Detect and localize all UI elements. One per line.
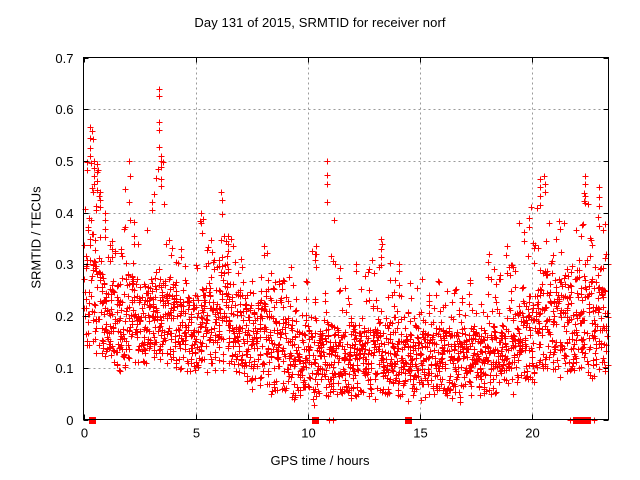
data-point-cross: [136, 348, 142, 354]
data-point-cross: [445, 289, 451, 295]
data-point-cross: [463, 313, 469, 319]
data-point-cross: [119, 251, 125, 257]
data-point-cross: [544, 239, 550, 245]
data-point-cross: [85, 168, 91, 174]
data-point-cross: [603, 222, 609, 228]
data-point-cross: [97, 194, 103, 200]
data-point-zero-cross: [331, 418, 337, 424]
data-point-cross: [111, 279, 117, 285]
data-point-cross: [537, 342, 543, 348]
data-point-cross: [374, 298, 380, 304]
data-point-cross: [497, 380, 503, 386]
data-point-cross: [597, 224, 603, 230]
data-point-cross: [220, 255, 226, 261]
data-point-spike: [354, 269, 360, 275]
data-point-cross: [247, 318, 253, 324]
data-point-cross: [127, 356, 133, 362]
data-point-cross: [566, 302, 572, 308]
data-point-cross: [359, 287, 365, 293]
data-point-cross: [596, 215, 602, 221]
data-point-cross: [596, 296, 602, 302]
data-point-cross: [532, 261, 538, 267]
data-point-cross: [213, 368, 219, 374]
data-point-cross: [174, 358, 180, 364]
data-point-cross: [266, 278, 272, 284]
data-point-cross: [587, 302, 593, 308]
data-point-cross: [238, 310, 244, 316]
data-point-cross: [520, 286, 526, 292]
data-point-cross: [123, 319, 129, 325]
data-point-spike: [543, 182, 549, 188]
y-tick-label: 0.1: [55, 361, 73, 376]
data-point-cross: [552, 314, 558, 320]
data-point-cross: [258, 376, 264, 382]
data-point-cross: [515, 380, 521, 386]
data-point-cross: [474, 311, 480, 317]
data-point-cross: [295, 385, 301, 391]
data-point-cross: [427, 299, 433, 305]
data-point-cross: [231, 282, 237, 288]
data-point-spike: [220, 198, 226, 204]
data-point-cross: [261, 361, 267, 367]
data-point-cross: [373, 397, 379, 403]
data-point-cross: [569, 284, 575, 290]
data-point-cross: [527, 294, 533, 300]
data-point-spike: [583, 174, 589, 180]
data-point-cross: [503, 341, 509, 347]
data-point-spike: [240, 265, 246, 271]
data-point-cross: [303, 323, 309, 329]
data-point-cross: [304, 297, 310, 303]
data-point-cross: [336, 360, 342, 366]
data-point-cross: [93, 248, 99, 254]
data-point-spike: [597, 195, 603, 201]
data-point-cross: [559, 250, 565, 256]
data-point-cross: [500, 323, 506, 329]
data-point-cross: [586, 362, 592, 368]
data-point-cross: [389, 357, 395, 363]
data-point-cross: [127, 347, 133, 353]
data-point-cross: [324, 385, 330, 391]
data-point-cross: [603, 256, 609, 262]
data-point-cross: [258, 335, 264, 341]
data-point-cross: [513, 285, 519, 291]
data-point-cross: [347, 302, 353, 308]
data-point-cross: [453, 288, 459, 294]
data-point-spike: [325, 200, 331, 206]
data-point-spike: [379, 255, 385, 261]
data-point-cross: [109, 298, 115, 304]
data-point-cross: [460, 300, 466, 306]
data-point-cross: [467, 292, 473, 298]
data-point-cross: [221, 352, 227, 358]
data-point-cross: [458, 395, 464, 401]
data-point-cross: [89, 278, 95, 284]
data-point-cross: [271, 286, 277, 292]
data-point-cross: [337, 289, 343, 295]
data-point-cross: [226, 270, 232, 276]
data-point-cross: [386, 326, 392, 332]
data-point-cross: [469, 393, 475, 399]
data-point-cross: [94, 351, 100, 357]
y-tick-label: 0.2: [55, 309, 73, 324]
data-point-cross: [118, 369, 124, 375]
data-point-cross: [455, 330, 461, 336]
data-point-cross: [183, 264, 189, 270]
data-point-spike: [538, 185, 544, 191]
data-point-spike: [95, 162, 101, 168]
data-point-cross: [164, 242, 170, 248]
data-point-cross: [86, 228, 92, 234]
data-point-cross: [594, 280, 600, 286]
data-point-cross: [579, 292, 585, 298]
data-point-cross: [314, 265, 320, 271]
data-point-cross: [493, 295, 499, 301]
data-point-cross: [249, 303, 255, 309]
data-point-cross: [88, 243, 94, 249]
data-points: [82, 87, 612, 425]
data-point-cross: [450, 396, 456, 402]
data-point-cross: [158, 357, 164, 363]
data-point-spike: [159, 184, 165, 190]
data-point-cross: [82, 277, 88, 283]
data-point-cross: [243, 303, 249, 309]
data-point-cross: [379, 309, 385, 315]
data-point-cross: [558, 227, 564, 233]
data-point-cross: [517, 304, 523, 310]
data-point-cross: [419, 352, 425, 358]
y-axis-label: SRMTID / TECUs: [29, 138, 44, 338]
data-point-cross: [467, 302, 473, 308]
data-point-cross: [272, 287, 278, 293]
data-point-cross: [456, 357, 462, 363]
data-point-spike: [103, 218, 109, 224]
data-point-cross: [343, 378, 349, 384]
data-point-cross: [305, 280, 311, 286]
data-point-cross: [419, 398, 425, 404]
data-point-spike: [179, 247, 185, 253]
data-point-cross: [238, 302, 244, 308]
data-point-spike: [486, 260, 492, 266]
data-point-spike: [538, 194, 544, 200]
data-point-cross: [605, 334, 611, 340]
data-point-spike: [150, 208, 156, 214]
data-point-cross: [149, 277, 155, 283]
data-point-zero-cross: [568, 418, 574, 424]
data-point-cross: [559, 343, 565, 349]
data-point-spike: [95, 179, 101, 185]
data-point-cross: [569, 270, 575, 276]
data-point-cross: [136, 360, 142, 366]
data-point-cross: [311, 397, 317, 403]
data-point-cross: [221, 368, 227, 374]
data-point-spike: [88, 136, 94, 142]
data-point-cross: [509, 289, 515, 295]
data-point-cross: [397, 283, 403, 289]
data-point-cross: [259, 275, 265, 281]
data-point-cross: [568, 295, 574, 301]
data-point-spike: [199, 211, 205, 217]
data-point-cross: [408, 281, 414, 287]
data-point-cross: [522, 230, 528, 236]
data-point-cross: [230, 353, 236, 359]
data-point-cross: [406, 399, 412, 405]
data-point-cross: [582, 330, 588, 336]
data-point-cross: [103, 354, 109, 360]
data-point-cross: [115, 295, 121, 301]
data-point-cross: [411, 393, 417, 399]
data-point-spike: [179, 255, 185, 261]
data-point-spike: [597, 204, 603, 210]
data-point-cross: [463, 332, 469, 338]
data-point-cross: [208, 286, 214, 292]
data-point-cross: [438, 309, 444, 315]
data-point-cross: [188, 369, 194, 375]
data-point-spike: [200, 231, 206, 237]
data-point-cross: [179, 366, 185, 372]
data-point-cross: [294, 308, 300, 314]
data-point-spike: [583, 182, 589, 188]
data-point-cross: [233, 260, 239, 266]
data-point-spike: [219, 190, 225, 196]
data-point-cross: [248, 290, 254, 296]
data-point-cross: [293, 309, 299, 315]
data-point-spike: [504, 253, 510, 259]
data-point-cross: [306, 324, 312, 330]
data-point-cross: [153, 276, 159, 282]
data-point-spike: [262, 244, 268, 250]
data-point-cross: [380, 242, 386, 248]
data-point-cross: [93, 303, 99, 309]
y-tick-label: 0.7: [55, 51, 73, 66]
data-point-cross: [532, 370, 538, 376]
data-point-cross: [366, 270, 372, 276]
data-point-spike: [538, 203, 544, 209]
data-point-cross: [281, 278, 287, 284]
data-point-cross: [266, 372, 272, 378]
data-point-cross: [510, 377, 516, 383]
data-point-cross: [145, 228, 151, 234]
data-point-cross: [313, 361, 319, 367]
data-point-cross: [374, 372, 380, 378]
data-point-cross: [204, 344, 210, 350]
data-point-cross: [201, 334, 207, 340]
data-point-cross: [408, 319, 414, 325]
data-point-cross: [527, 300, 533, 306]
data-point-cross: [470, 308, 476, 314]
data-point-cross: [157, 145, 163, 151]
data-point-cross: [313, 258, 319, 264]
data-point-cross: [241, 280, 247, 286]
data-point-cross: [227, 340, 233, 346]
data-point-cross: [563, 273, 569, 279]
data-point-cross: [487, 321, 493, 327]
data-point-cross: [289, 265, 295, 271]
data-point-cross: [499, 330, 505, 336]
data-point-cross: [355, 363, 361, 369]
data-point-cross: [516, 327, 522, 333]
data-point-cross: [529, 205, 535, 211]
data-point-cross: [579, 286, 585, 292]
data-point-cross: [124, 309, 130, 315]
scatter-plot-svg: 00.10.20.30.40.50.60.705101520: [0, 0, 640, 480]
data-point-cross: [207, 281, 213, 287]
data-point-cross: [550, 339, 556, 345]
data-point-cross: [234, 369, 240, 375]
data-point-spike: [239, 257, 245, 263]
data-point-cross: [576, 295, 582, 301]
data-point-cross: [427, 293, 433, 299]
data-point-cross: [169, 337, 175, 343]
data-point-cross: [169, 253, 175, 259]
data-point-cross: [517, 221, 523, 227]
data-point-cross: [173, 334, 179, 340]
data-point-cross: [457, 308, 463, 314]
data-point-spike: [583, 194, 589, 200]
data-point-cross: [258, 322, 264, 328]
data-point-cross: [573, 322, 579, 328]
data-point-cross: [123, 187, 129, 193]
data-point-cross: [574, 228, 580, 234]
data-point-cross: [275, 331, 281, 337]
data-point-cross: [251, 291, 257, 297]
data-point-cross: [367, 267, 373, 273]
data-point-cross: [563, 361, 569, 367]
data-point-cross: [221, 359, 227, 365]
data-point-cross: [450, 300, 456, 306]
data-point-cross: [337, 276, 343, 282]
data-point-cross: [593, 351, 599, 357]
data-point-cross: [200, 287, 206, 293]
data-point-spike: [103, 227, 109, 233]
data-point-cross: [124, 261, 130, 267]
data-point-cross: [154, 270, 160, 276]
data-point-cross: [509, 298, 515, 304]
data-point-cross: [536, 246, 542, 252]
data-point-cross: [531, 303, 537, 309]
data-point-cross: [479, 302, 485, 308]
data-point-cross: [258, 383, 264, 389]
data-point-cross: [363, 274, 369, 280]
data-point-cross: [154, 176, 160, 182]
data-point-spike: [487, 252, 493, 258]
data-point-cross: [287, 275, 293, 281]
data-point-cross: [590, 243, 596, 249]
data-point-cross: [209, 238, 215, 244]
data-point-cross: [530, 355, 536, 361]
data-point-cross: [579, 234, 585, 240]
data-point-cross: [250, 279, 256, 285]
data-point-cross: [409, 296, 415, 302]
data-point-spike: [150, 200, 156, 206]
data-point-cross: [526, 254, 532, 260]
data-point-cross: [195, 266, 201, 272]
data-point-cross: [587, 310, 593, 316]
data-point-zero-square: [405, 417, 412, 424]
data-point-cross: [492, 267, 498, 273]
data-point-cross: [485, 314, 491, 320]
data-point-cross: [183, 278, 189, 284]
data-point-cross: [582, 191, 588, 197]
data-point-cross: [120, 254, 126, 260]
data-point-cross: [294, 319, 300, 325]
data-point-cross: [237, 370, 243, 376]
data-point-cross: [567, 360, 573, 366]
data-point-cross: [364, 299, 370, 305]
data-point-cross: [167, 238, 173, 244]
data-point-cross: [240, 353, 246, 359]
data-point-cross: [204, 321, 210, 327]
data-point-cross: [356, 368, 362, 374]
data-point-cross: [280, 287, 286, 293]
data-point-cross: [582, 274, 588, 280]
x-tick-label: 10: [301, 426, 315, 441]
data-point-cross: [491, 377, 497, 383]
data-point-cross: [207, 290, 213, 296]
data-point-cross: [530, 349, 536, 355]
data-point-cross: [372, 271, 378, 277]
data-point-spike: [314, 244, 320, 250]
data-point-cross: [269, 271, 275, 277]
y-tick-label: 0: [66, 413, 73, 428]
data-point-cross: [196, 311, 202, 317]
data-point-cross: [159, 333, 165, 339]
data-point-cross: [494, 300, 500, 306]
data-point-cross: [429, 378, 435, 384]
data-point-spike: [132, 242, 138, 248]
data-point-cross: [596, 273, 602, 279]
data-point-spike: [103, 211, 109, 217]
y-tick-label: 0.3: [55, 257, 73, 272]
data-point-spike: [379, 247, 385, 253]
data-point-cross: [486, 292, 492, 298]
data-point-spike: [325, 182, 331, 188]
data-point-cross: [131, 261, 137, 267]
data-point-cross: [601, 356, 607, 362]
data-point-cross: [547, 221, 553, 227]
data-point-cross: [426, 332, 432, 338]
data-point-cross: [181, 288, 187, 294]
data-point-cross: [165, 361, 171, 367]
data-point-cross: [548, 290, 554, 296]
data-point-cross: [488, 373, 494, 379]
data-point-cross: [459, 320, 465, 326]
data-point-cross: [393, 278, 399, 284]
data-point-spike: [88, 146, 94, 152]
data-point-cross: [388, 261, 394, 267]
data-point-cross: [324, 310, 330, 316]
data-point-spike: [103, 235, 109, 241]
data-point-cross: [583, 278, 589, 284]
data-point-cross: [558, 375, 564, 381]
data-point-cross: [546, 344, 552, 350]
data-point-cross: [416, 340, 422, 346]
data-point-cross: [601, 228, 607, 234]
data-point-cross: [434, 293, 440, 299]
data-point-spike: [397, 262, 403, 268]
data-point-cross: [565, 267, 571, 273]
data-point-spike: [127, 159, 133, 165]
data-point-spike: [220, 212, 226, 218]
plot-canvas: 00.10.20.30.40.50.60.705101520: [0, 0, 640, 480]
data-point-cross: [357, 323, 363, 329]
data-point-cross: [370, 258, 376, 264]
data-point-cross: [312, 403, 318, 409]
data-point-cross: [310, 249, 316, 255]
data-point-cross: [395, 309, 401, 315]
data-point-spike: [314, 252, 320, 258]
data-point-cross: [218, 307, 224, 313]
